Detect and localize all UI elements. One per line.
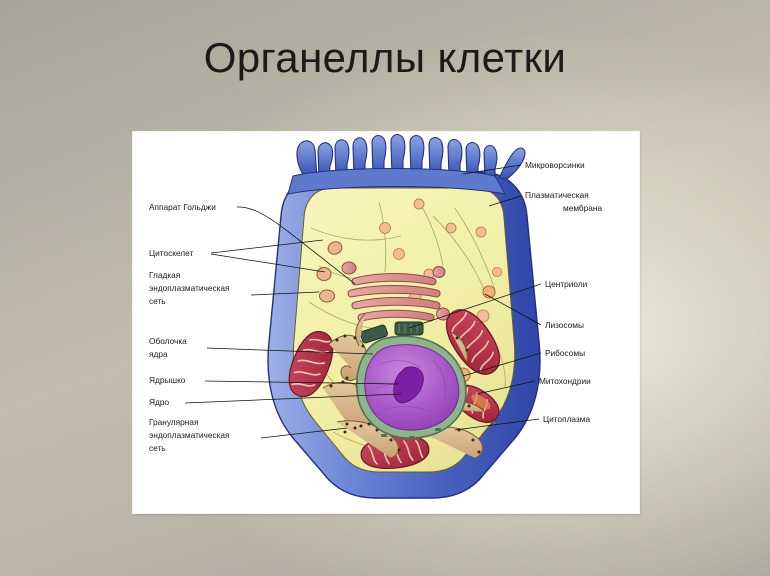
label-plasma-membrane-line2: мембрана [563, 203, 602, 213]
label-cytoskeleton: Цитоскелет [149, 248, 193, 258]
label-smooth-er-line2: эндоплазматическая [149, 283, 230, 293]
animal-cell-diagram: Аппарат Гольджи Цитоскелет Гладкая эндоп… [133, 132, 639, 513]
label-ribosomes: Рибосомы [545, 348, 585, 358]
label-centrioles: Центриоли [545, 279, 588, 289]
label-microvilli: Микроворсинки [525, 160, 585, 170]
label-nuclear-envelope-line1: Оболочка [149, 336, 187, 346]
label-cytoplasm: Цитоплазма [543, 414, 590, 424]
label-rough-er-line1: Гранулярная [149, 417, 198, 427]
page-title: Органеллы клетки [0, 34, 770, 82]
label-plasma-membrane-line1: Плазматическая [525, 190, 589, 200]
label-nucleolus: Ядрышко [149, 375, 186, 385]
cell-body [268, 135, 540, 498]
label-mitochondria: Митохондрии [539, 376, 591, 386]
label-golgi: Аппарат Гольджи [149, 202, 216, 212]
figure-panel: Аппарат Гольджи Цитоскелет Гладкая эндоп… [133, 132, 639, 513]
label-rough-er-line3: сеть [149, 443, 166, 453]
label-nuclear-envelope-line2: ядра [149, 349, 168, 359]
label-smooth-er-line1: Гладкая [149, 270, 180, 280]
label-smooth-er-line3: сеть [149, 296, 166, 306]
slide-canvas: Органеллы клетки [0, 0, 770, 576]
label-lysosomes: Лизосомы [545, 320, 584, 330]
label-rough-er-line2: эндоплазматическая [149, 430, 230, 440]
label-nucleus: Ядро [149, 397, 169, 407]
